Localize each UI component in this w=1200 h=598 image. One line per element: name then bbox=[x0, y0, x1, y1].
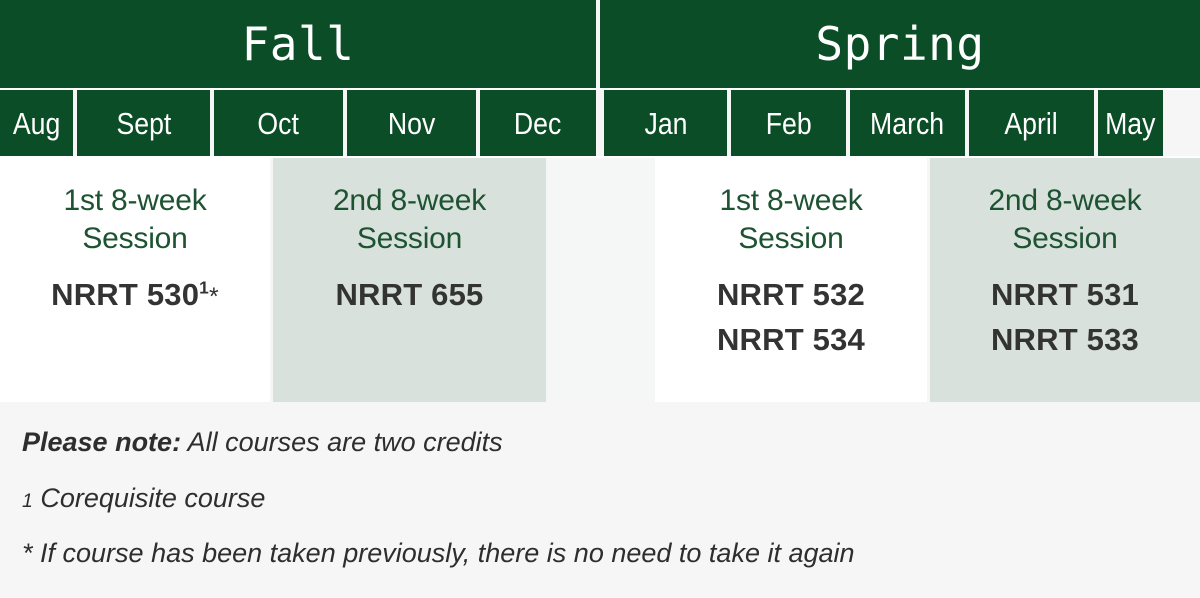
month-label-april: April bbox=[1005, 108, 1058, 139]
course-code-text: NRRT 533 bbox=[991, 322, 1139, 357]
footnote-please-note: Please note: All courses are two credits bbox=[22, 428, 1200, 458]
session-title-fall-second: 2nd 8-week Session bbox=[333, 182, 486, 259]
session-title-line2: Session bbox=[719, 220, 862, 258]
course-code-text: NRRT 534 bbox=[717, 322, 865, 357]
course-code-nrrt-534: NRRT 534 bbox=[717, 322, 865, 359]
course-code-text: NRRT 532 bbox=[717, 277, 865, 312]
course-superscript: 1 bbox=[199, 277, 209, 297]
month-cell-march: March bbox=[850, 90, 965, 156]
session-title-line1: 1st 8-week bbox=[719, 182, 862, 220]
course-code-text: NRRT 655 bbox=[335, 277, 483, 312]
course-star-marker: * bbox=[209, 284, 219, 311]
course-list-spring-first: NRRT 532 NRRT 534 bbox=[717, 277, 865, 359]
month-label-oct: Oct bbox=[258, 108, 299, 139]
month-label-aug: Aug bbox=[13, 108, 60, 139]
footnote-corequisite: 1 Corequisite course bbox=[22, 484, 1200, 514]
month-label-march: March bbox=[870, 108, 944, 139]
course-code-nrrt-530: NRRT 5301* bbox=[51, 277, 219, 314]
month-cell-jan: Jan bbox=[604, 90, 727, 156]
session-block-fall-first: 1st 8-week Session NRRT 5301* bbox=[0, 158, 270, 402]
footnote-text: Corequisite course bbox=[33, 483, 266, 513]
session-title-line1: 2nd 8-week bbox=[333, 182, 486, 220]
session-title-line1: 2nd 8-week bbox=[988, 182, 1141, 220]
session-block-spring-second: 2nd 8-week Session NRRT 531 NRRT 533 bbox=[930, 158, 1200, 402]
footnote-text: All courses are two credits bbox=[181, 427, 503, 457]
session-title-line2: Session bbox=[63, 220, 206, 258]
session-title-line2: Session bbox=[333, 220, 486, 258]
course-list-fall-first: NRRT 5301* bbox=[51, 277, 219, 314]
footnote-marker-one: 1 bbox=[22, 490, 33, 512]
month-cell-nov: Nov bbox=[347, 90, 476, 156]
footnote-text: If course has been taken previously, the… bbox=[33, 538, 855, 568]
month-cell-may: May bbox=[1098, 90, 1163, 156]
course-code-text: NRRT 530 bbox=[51, 277, 199, 312]
footnote-label: Please note: bbox=[22, 427, 181, 457]
semester-header-row: Fall Spring bbox=[0, 0, 1200, 88]
session-block-fall-second: 2nd 8-week Session NRRT 655 bbox=[273, 158, 546, 402]
month-label-jan: Jan bbox=[644, 108, 687, 139]
month-label-may: May bbox=[1105, 108, 1155, 139]
academic-calendar: Fall Spring Aug Sept Oct Nov Dec Jan Feb… bbox=[0, 0, 1200, 598]
month-label-sept: Sept bbox=[116, 108, 171, 139]
month-label-nov: Nov bbox=[388, 108, 435, 139]
month-header-row: Aug Sept Oct Nov Dec Jan Feb March April… bbox=[0, 90, 1200, 156]
semester-header-fall: Fall bbox=[0, 0, 596, 88]
month-label-dec: Dec bbox=[514, 108, 561, 139]
month-label-feb: Feb bbox=[766, 108, 812, 139]
course-code-text: NRRT 531 bbox=[991, 277, 1139, 312]
semester-header-spring: Spring bbox=[600, 0, 1200, 88]
course-code-nrrt-533: NRRT 533 bbox=[991, 322, 1139, 359]
month-cell-feb: Feb bbox=[731, 90, 846, 156]
footnote-marker-star: * bbox=[22, 538, 33, 568]
session-title-fall-first: 1st 8-week Session bbox=[63, 182, 206, 259]
sessions-row: 1st 8-week Session NRRT 5301* 2nd 8-week… bbox=[0, 158, 1200, 402]
footnotes-section: Please note: All courses are two credits… bbox=[0, 402, 1200, 598]
session-block-spring-first: 1st 8-week Session NRRT 532 NRRT 534 bbox=[655, 158, 927, 402]
session-title-line1: 1st 8-week bbox=[63, 182, 206, 220]
course-code-nrrt-655: NRRT 655 bbox=[335, 277, 483, 314]
session-title-line2: Session bbox=[988, 220, 1141, 258]
session-title-spring-second: 2nd 8-week Session bbox=[988, 182, 1141, 259]
course-list-fall-second: NRRT 655 bbox=[335, 277, 483, 314]
footnote-star: * If course has been taken previously, t… bbox=[22, 539, 1200, 569]
course-code-nrrt-531: NRRT 531 bbox=[991, 277, 1139, 314]
course-code-nrrt-532: NRRT 532 bbox=[717, 277, 865, 314]
month-cell-dec: Dec bbox=[480, 90, 596, 156]
course-list-spring-second: NRRT 531 NRRT 533 bbox=[991, 277, 1139, 359]
month-cell-aug: Aug bbox=[0, 90, 73, 156]
month-cell-april: April bbox=[969, 90, 1094, 156]
month-cell-oct: Oct bbox=[214, 90, 343, 156]
session-title-spring-first: 1st 8-week Session bbox=[719, 182, 862, 259]
month-cell-sept: Sept bbox=[77, 90, 210, 156]
